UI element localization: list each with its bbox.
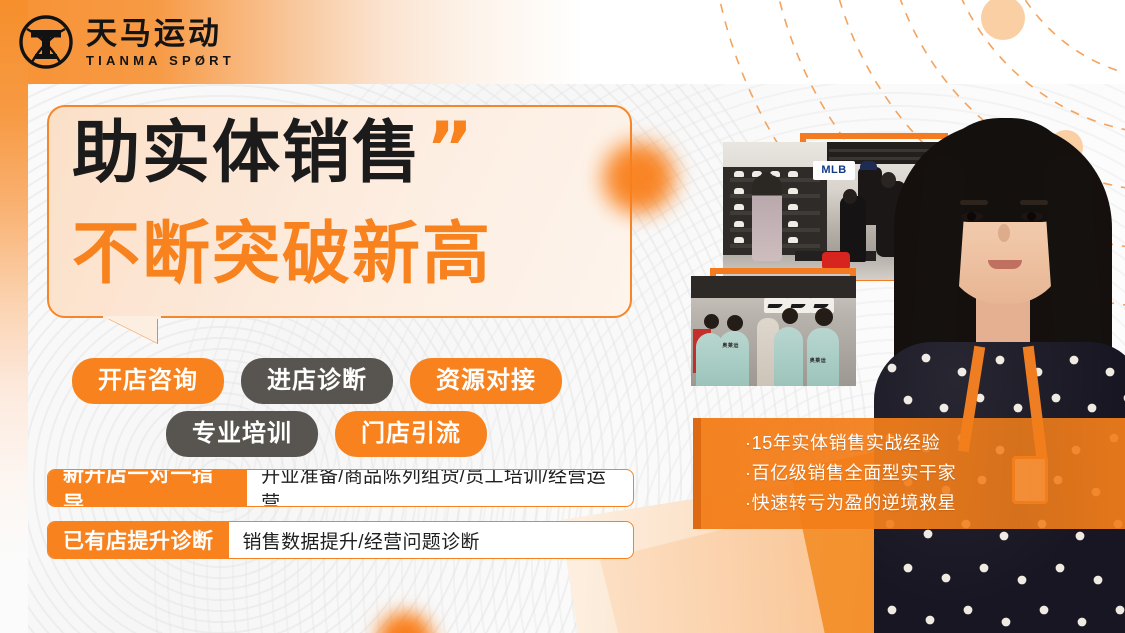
info-row-existing-store[interactable]: 已有店提升诊断 销售数据提升/经营问题诊断 — [47, 521, 634, 559]
brand-logo-text: 天马运动 TIANMA SPØRT — [86, 18, 235, 67]
mlb-store-sign: MLB — [813, 161, 855, 180]
headline-top-text: 助实体销售 — [72, 120, 422, 188]
quote-mark-icon: ” — [426, 120, 473, 178]
basketball-t-monogram-icon — [18, 14, 74, 70]
brand-name-cn: 天马运动 — [86, 18, 235, 49]
poster-canvas: 天马运动 TIANMA SPØRT 助实体销售 ” 不断突破新高 开店咨询 进店… — [0, 0, 1125, 633]
service-pill-mendianyinliu[interactable]: 门店引流 — [335, 411, 487, 457]
headline-block: 助实体销售 ” 不断突破新高 — [72, 120, 632, 297]
service-pill-ziyuanduijie[interactable]: 资源对接 — [410, 358, 562, 404]
credentials-list: ·15年实体销售实战经验 ·百亿级销售全面型实干家 ·快速转亏为盈的逆境救星 — [745, 428, 1075, 518]
brand-name-en: TIANMA SPØRT — [86, 54, 235, 67]
service-pill-row-two: 专业培训 门店引流 — [166, 411, 487, 457]
presenter-portrait — [880, 96, 1125, 633]
staff-uniform-sign: 奥莱运 — [722, 342, 739, 349]
speech-bubble-tail — [105, 317, 157, 343]
info-row-new-store-tag: 新开店一对一指导 — [48, 470, 247, 506]
credentials-panel-accent-bar — [693, 418, 701, 529]
service-pill-zhuanyepeixun[interactable]: 专业培训 — [166, 411, 318, 457]
staff-briefing-photo: 奥莱运 奥莱运 — [691, 276, 856, 386]
left-orange-gradient-edge — [0, 0, 28, 633]
staff-briefing-photo-scene: 奥莱运 奥莱运 — [691, 276, 856, 386]
headline-line-one: 助实体销售 ” — [72, 120, 632, 188]
brand-logo: 天马运动 TIANMA SPØRT — [18, 14, 235, 70]
service-pill-jindianzhenduan[interactable]: 进店诊断 — [241, 358, 393, 404]
credential-item-experience: ·15年实体销售实战经验 — [745, 428, 1075, 458]
speech-bubble-tail-patch — [103, 316, 161, 319]
service-pill-row-one: 开店咨询 进店诊断 资源对接 — [72, 358, 562, 404]
headline-bottom-text: 不断突破新高 — [72, 198, 632, 297]
info-row-new-store[interactable]: 新开店一对一指导 开业准备/商品陈列组货/员工培训/经营运营 — [47, 469, 634, 507]
info-row-existing-store-tag: 已有店提升诊断 — [48, 522, 229, 558]
info-row-new-store-text: 开业准备/商品陈列组货/员工培训/经营运营 — [247, 470, 633, 506]
service-pill-kaidianzixun[interactable]: 开店咨询 — [72, 358, 224, 404]
info-row-existing-store-text: 销售数据提升/经营问题诊断 — [229, 522, 494, 558]
credential-item-sales-scale: ·百亿级销售全面型实干家 — [745, 458, 1075, 488]
credential-item-turnaround: ·快速转亏为盈的逆境救星 — [745, 488, 1075, 518]
